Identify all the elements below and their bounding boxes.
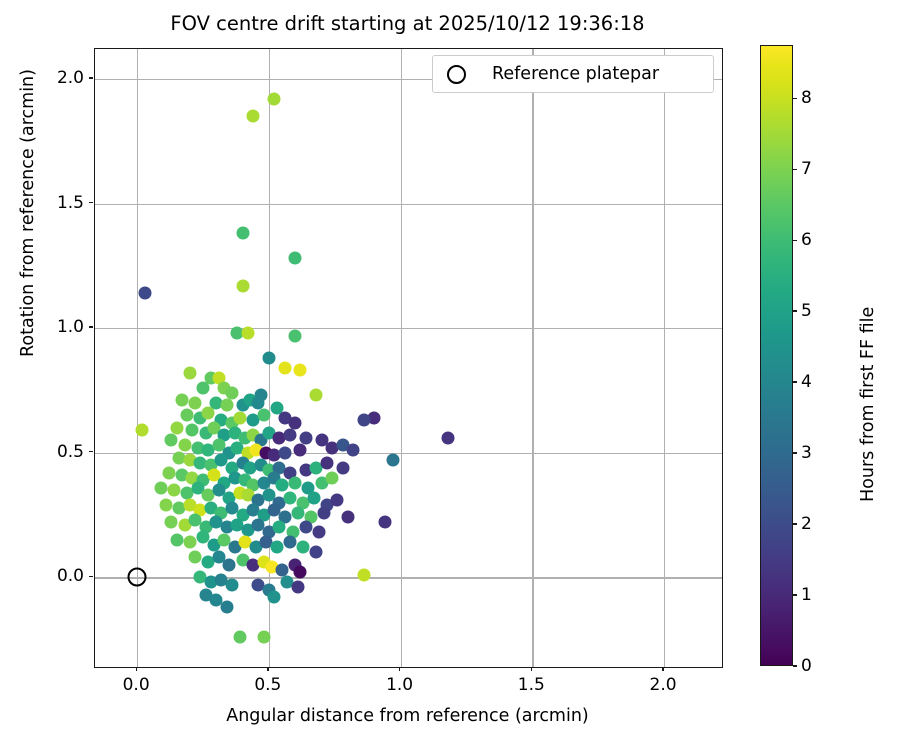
scatter-point	[442, 431, 455, 444]
scatter-point	[283, 491, 296, 504]
x-tick-mark	[399, 667, 400, 671]
scatter-point	[270, 541, 283, 554]
scatter-point	[139, 287, 152, 300]
colorbar-tick-label: 0	[801, 656, 812, 676]
scatter-point	[278, 446, 291, 459]
scatter-point	[310, 389, 323, 402]
scatter-plot-area	[94, 48, 723, 668]
scatter-point	[341, 511, 354, 524]
scatter-point	[297, 541, 310, 554]
gridline-vertical	[532, 49, 533, 667]
y-tick-mark	[89, 202, 93, 203]
scatter-point	[294, 364, 307, 377]
x-tick-label: 1.0	[386, 675, 413, 695]
colorbar-tick-mark	[793, 665, 797, 666]
scatter-point	[189, 551, 202, 564]
scatter-point	[220, 399, 233, 412]
x-tick-mark	[136, 667, 137, 671]
y-tick-label: 0.0	[42, 566, 84, 586]
colorbar-tick-mark	[793, 310, 797, 311]
scatter-point	[183, 366, 196, 379]
colorbar-tick-label: 5	[801, 301, 812, 321]
scatter-point	[291, 506, 304, 519]
scatter-point	[283, 429, 296, 442]
scatter-point	[183, 536, 196, 549]
scatter-point	[257, 409, 270, 422]
colorbar-tick-label: 1	[801, 585, 812, 605]
scatter-point	[257, 631, 270, 644]
colorbar-tick-label: 2	[801, 514, 812, 534]
scatter-point	[165, 516, 178, 529]
gridline-vertical	[664, 49, 665, 667]
scatter-point	[320, 456, 333, 469]
scatter-point	[294, 444, 307, 457]
scatter-point	[197, 381, 210, 394]
gridline-vertical	[401, 49, 402, 667]
scatter-point	[160, 499, 173, 512]
gridline-horizontal	[95, 204, 722, 205]
x-axis-label: Angular distance from reference (arcmin)	[94, 706, 721, 726]
scatter-point	[336, 461, 349, 474]
scatter-point	[175, 394, 188, 407]
scatter-point	[225, 386, 238, 399]
scatter-point	[289, 329, 302, 342]
scatter-point	[136, 424, 149, 437]
scatter-point	[289, 476, 302, 489]
scatter-point	[276, 563, 289, 576]
chart-legend[interactable]: Reference platepar	[432, 55, 714, 93]
scatter-point	[268, 591, 281, 604]
scatter-point	[247, 110, 260, 123]
x-tick-label: 0.5	[254, 675, 281, 695]
x-tick-mark	[531, 667, 532, 671]
scatter-point	[357, 414, 370, 427]
scatter-point	[225, 578, 238, 591]
scatter-point	[278, 361, 291, 374]
scatter-point	[378, 516, 391, 529]
scatter-point	[241, 327, 254, 340]
scatter-point	[189, 396, 202, 409]
colorbar-tick-mark	[793, 98, 797, 99]
y-tick-label: 2.0	[42, 68, 84, 88]
scatter-point	[299, 431, 312, 444]
scatter-point	[326, 471, 339, 484]
scatter-point	[294, 566, 307, 579]
figure-canvas: FOV centre drift starting at 2025/10/12 …	[0, 0, 900, 750]
scatter-point	[233, 411, 246, 424]
scatter-point	[162, 466, 175, 479]
reference-platepar-point	[128, 568, 147, 587]
y-tick-mark	[89, 451, 93, 452]
scatter-point	[262, 352, 275, 365]
scatter-point	[181, 409, 194, 422]
colorbar-tick-mark	[793, 594, 797, 595]
colorbar-tick-mark	[793, 240, 797, 241]
chart-title: FOV centre drift starting at 2025/10/12 …	[94, 12, 721, 35]
x-tick-mark	[267, 667, 268, 671]
y-tick-mark	[89, 576, 93, 577]
x-tick-label: 0.0	[123, 675, 150, 695]
scatter-point	[268, 92, 281, 105]
x-tick-mark	[662, 667, 663, 671]
reference-platepar-marker-icon	[447, 65, 466, 84]
scatter-point	[299, 521, 312, 534]
colorbar-tick-label: 8	[801, 88, 812, 108]
scatter-point	[233, 631, 246, 644]
scatter-point	[310, 546, 323, 559]
colorbar-tick-mark	[793, 452, 797, 453]
scatter-point	[318, 506, 331, 519]
scatter-point	[186, 424, 199, 437]
colorbar-tick-label: 3	[801, 443, 812, 463]
colorbar-tick-mark	[793, 169, 797, 170]
scatter-point	[307, 491, 320, 504]
scatter-point	[291, 581, 304, 594]
scatter-point	[154, 481, 167, 494]
scatter-point	[312, 526, 325, 539]
scatter-point	[289, 252, 302, 265]
colorbar-container	[760, 45, 793, 666]
gridline-horizontal	[95, 328, 722, 329]
colorbar-tick-label: 4	[801, 372, 812, 392]
scatter-point	[331, 494, 344, 507]
y-tick-label: 0.5	[42, 442, 84, 462]
x-tick-label: 1.5	[518, 675, 545, 695]
colorbar-gradient	[760, 45, 793, 666]
colorbar-tick-label: 6	[801, 230, 812, 250]
scatter-point	[170, 533, 183, 546]
x-tick-label: 2.0	[650, 675, 677, 695]
scatter-point	[276, 479, 289, 492]
scatter-point	[236, 279, 249, 292]
scatter-point	[347, 444, 360, 457]
y-tick-label: 1.5	[42, 193, 84, 213]
y-tick-label: 1.0	[42, 317, 84, 337]
scatter-point	[273, 521, 286, 534]
scatter-point	[357, 568, 370, 581]
legend-label: Reference platepar	[492, 64, 659, 84]
scatter-point	[220, 601, 233, 614]
gridline-horizontal	[95, 577, 722, 578]
scatter-point	[283, 536, 296, 549]
scatter-point	[223, 558, 236, 571]
colorbar-tick-label: 7	[801, 159, 812, 179]
scatter-point	[386, 454, 399, 467]
y-tick-mark	[89, 77, 93, 78]
scatter-point	[170, 421, 183, 434]
scatter-point	[289, 416, 302, 429]
scatter-point	[252, 396, 265, 409]
colorbar-tick-mark	[793, 381, 797, 382]
colorbar-label: Hours from first FF file	[858, 307, 878, 502]
scatter-point	[165, 434, 178, 447]
y-tick-mark	[89, 326, 93, 327]
scatter-point	[236, 227, 249, 240]
scatter-point	[178, 439, 191, 452]
scatter-point	[202, 406, 215, 419]
y-axis-label: Rotation from reference (arcmin)	[18, 69, 38, 357]
scatter-point	[168, 484, 181, 497]
colorbar-tick-mark	[793, 523, 797, 524]
